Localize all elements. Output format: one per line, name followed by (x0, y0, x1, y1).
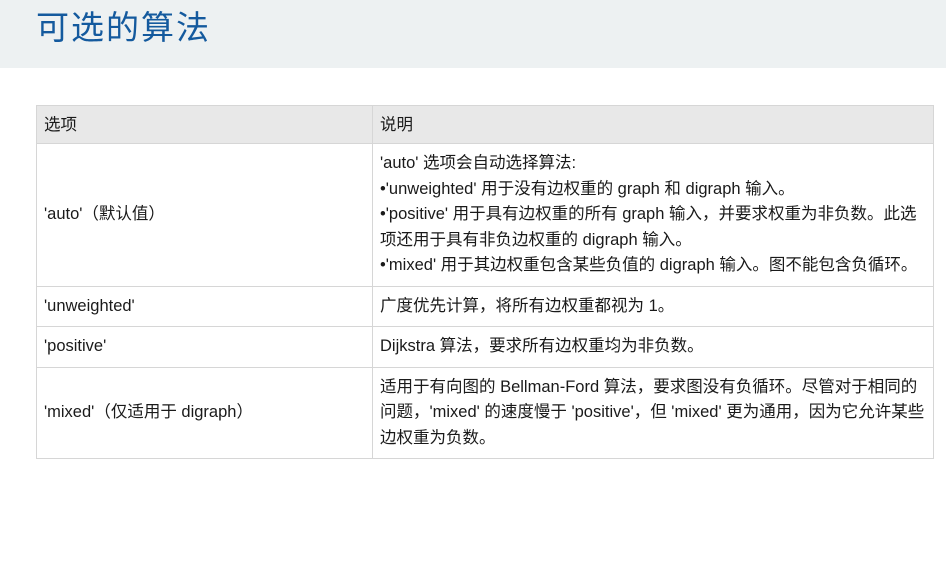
table-row: 'unweighted' 广度优先计算，将所有边权重都视为 1。 (37, 286, 934, 327)
option-name-mixed: 'mixed'（仅适用于 digraph） (37, 367, 373, 459)
column-header-option: 选项 (37, 106, 373, 144)
option-name-positive: 'positive' (37, 327, 373, 368)
option-name-unweighted: 'unweighted' (37, 286, 373, 327)
column-header-description: 说明 (373, 106, 934, 144)
table-header: 选项 说明 (37, 106, 934, 144)
table-body: 'auto'（默认值） 'auto' 选项会自动选择算法: •'unweight… (37, 144, 934, 459)
table-row: 'mixed'（仅适用于 digraph） 适用于有向图的 Bellman-Fo… (37, 367, 934, 459)
table-header-row: 选项 说明 (37, 106, 934, 144)
page-banner: 可选的算法 (0, 0, 946, 68)
option-description-positive: Dijkstra 算法，要求所有边权重均为非负数。 (373, 327, 934, 368)
option-description-auto: 'auto' 选项会自动选择算法: •'unweighted' 用于没有边权重的… (373, 144, 934, 287)
description-line: •'mixed' 用于其边权重包含某些负值的 digraph 输入。图不能包含负… (380, 253, 925, 279)
page-title: 可选的算法 (36, 6, 211, 52)
table-row: 'auto'（默认值） 'auto' 选项会自动选择算法: •'unweight… (37, 144, 934, 287)
description-line: Dijkstra 算法，要求所有边权重均为非负数。 (380, 334, 925, 360)
description-line: 广度优先计算，将所有边权重都视为 1。 (380, 294, 925, 320)
description-line: •'unweighted' 用于没有边权重的 graph 和 digraph 输… (380, 177, 925, 203)
option-description-mixed: 适用于有向图的 Bellman-Ford 算法，要求图没有负循环。尽管对于相同的… (373, 367, 934, 459)
algorithms-table: 选项 说明 'auto'（默认值） 'auto' 选项会自动选择算法: •'un… (36, 105, 934, 459)
algorithms-table-container: 选项 说明 'auto'（默认值） 'auto' 选项会自动选择算法: •'un… (36, 105, 933, 459)
description-line: •'positive' 用于具有边权重的所有 graph 输入，并要求权重为非负… (380, 202, 925, 253)
option-name-auto: 'auto'（默认值） (37, 144, 373, 287)
option-description-unweighted: 广度优先计算，将所有边权重都视为 1。 (373, 286, 934, 327)
description-line: 适用于有向图的 Bellman-Ford 算法，要求图没有负循环。尽管对于相同的… (380, 375, 925, 452)
table-row: 'positive' Dijkstra 算法，要求所有边权重均为非负数。 (37, 327, 934, 368)
description-line: 'auto' 选项会自动选择算法: (380, 151, 925, 177)
